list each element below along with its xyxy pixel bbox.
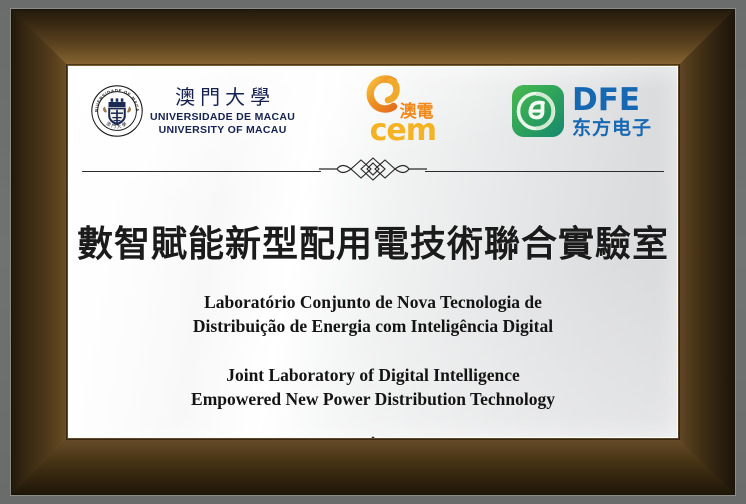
divider-rule-left [82,171,321,172]
frame-bevel-top [12,10,734,66]
dfe-letters: DFE [572,85,652,116]
dfe-wordmark: DFE 东方电子 [572,85,652,138]
lab-title-portuguese: Laboratório Conjunto de Nova Tecnologia … [193,291,553,338]
university-of-macau-wordmark: 澳門大學 UNIVERSIDADE DE MACAU UNIVERSITY OF… [150,87,295,136]
lab-title-portuguese-line1: Laboratório Conjunto de Nova Tecnologia … [193,291,553,315]
frame-bevel-left [12,10,68,494]
logo-row: UNIVERSIDADE DE MACAU 澳門大學 [68,72,678,150]
lab-title-portuguese-line2: Distribuição de Energia com Inteligência… [193,315,553,339]
um-name-en: UNIVERSITY OF MACAU [159,125,287,136]
divider-bottom [68,434,678,439]
divider-rule-right [425,171,664,172]
divider-top [68,154,678,189]
plaque-screenshot: UNIVERSIDADE DE MACAU 澳門大學 [0,0,746,504]
lab-title-english-line2: Empowered New Power Distribution Technol… [191,388,555,412]
cem-wordmark: cem [370,116,436,146]
logo-dfe: DFE 东方电子 [512,85,652,138]
lab-title-english: Joint Laboratory of Digital Intelligence… [191,364,555,411]
plaque-content: UNIVERSIDADE DE MACAU 澳門大學 [68,66,678,438]
dfe-name-cn: 东方电子 [572,119,652,138]
logo-university-of-macau: UNIVERSIDADE DE MACAU 澳門大學 [90,84,295,138]
logo-cem: 澳電 cem [356,72,452,150]
cem-swirl-icon [360,72,404,116]
ornamental-knot-divider-icon [319,154,427,189]
frame-bevel-right [678,10,734,494]
frame-bevel-bottom [12,438,734,494]
ornamental-knot-divider-icon [328,434,418,439]
dfe-green-swirl-icon [512,85,564,137]
lab-title-chinese: 數智賦能新型配用電技術聯合實驗室 [77,215,669,267]
um-name-pt: UNIVERSIDADE DE MACAU [150,112,295,123]
um-name-cn: 澳門大學 [170,87,275,107]
university-of-macau-seal-icon: UNIVERSIDADE DE MACAU 澳門大學 [90,84,144,138]
lab-title-english-line1: Joint Laboratory of Digital Intelligence [191,364,555,388]
plaque-face: UNIVERSIDADE DE MACAU 澳門大學 [68,66,678,438]
